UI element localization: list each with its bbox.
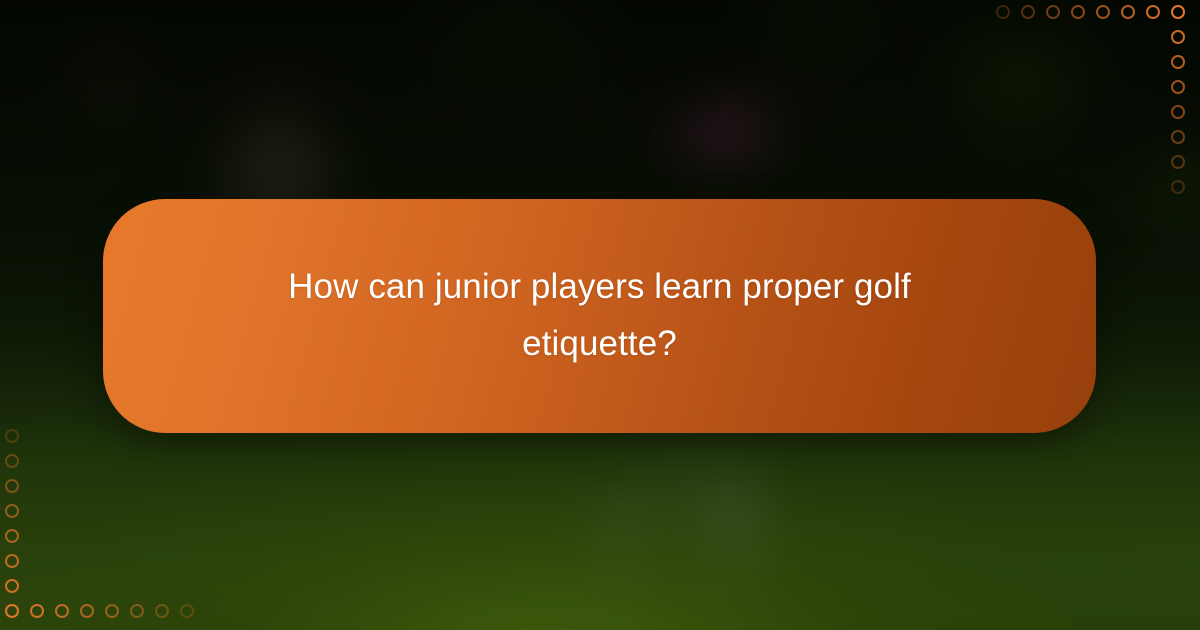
decor-dot xyxy=(1171,80,1185,94)
decor-dot xyxy=(1096,5,1110,19)
decor-dot xyxy=(1171,105,1185,119)
decor-dot xyxy=(1171,155,1185,169)
decor-dot xyxy=(5,454,19,468)
question-text: How can junior players learn proper golf… xyxy=(223,259,976,372)
decor-dot xyxy=(1171,180,1185,194)
decor-dot xyxy=(5,479,19,493)
decor-dot xyxy=(80,604,94,618)
decor-dot xyxy=(5,554,19,568)
decor-dot xyxy=(5,604,19,618)
decor-dot xyxy=(30,604,44,618)
social-card-canvas: How can junior players learn proper golf… xyxy=(0,0,1200,630)
decor-dot xyxy=(55,604,69,618)
decor-dot xyxy=(5,529,19,543)
decor-dot xyxy=(1046,5,1060,19)
decor-dot xyxy=(1121,5,1135,19)
decor-dot xyxy=(5,504,19,518)
dot-pattern-bottom-left xyxy=(0,430,210,630)
decor-dot xyxy=(1146,5,1160,19)
decor-dot xyxy=(1171,55,1185,69)
decor-dot xyxy=(1071,5,1085,19)
decor-dot xyxy=(996,5,1010,19)
decor-dot xyxy=(1021,5,1035,19)
decor-dot xyxy=(1171,5,1185,19)
question-card[interactable]: How can junior players learn proper golf… xyxy=(103,199,1096,433)
decor-dot xyxy=(105,604,119,618)
decor-dot xyxy=(180,604,194,618)
decor-dot xyxy=(1171,30,1185,44)
decor-dot xyxy=(130,604,144,618)
dot-pattern-top-right xyxy=(990,0,1200,190)
decor-dot xyxy=(155,604,169,618)
decor-dot xyxy=(5,579,19,593)
decor-dot xyxy=(5,429,19,443)
decor-dot xyxy=(1171,130,1185,144)
